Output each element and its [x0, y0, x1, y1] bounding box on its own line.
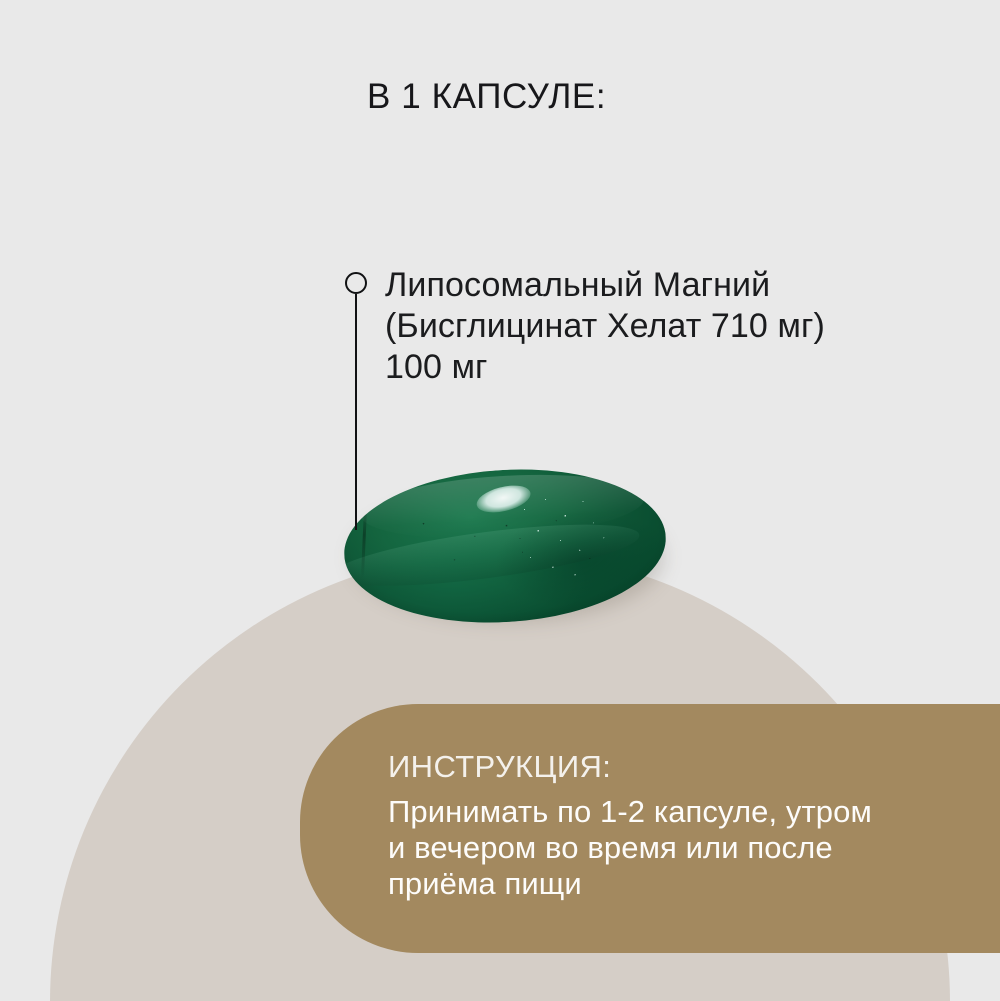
ingredient-callout: Липосомальный Магний (Бисглицинат Хелат …: [385, 265, 905, 388]
ingredient-line-1: Липосомальный Магний: [385, 265, 905, 306]
instruction-content: ИНСТРУКЦИЯ: Принимать по 1-2 капсуле, ут…: [388, 748, 958, 902]
page-title: В 1 КАПСУЛЕ:: [367, 76, 606, 118]
ingredient-line-3: 100 мг: [385, 347, 905, 388]
instruction-heading: ИНСТРУКЦИЯ:: [388, 748, 958, 786]
capsule-body: [340, 460, 671, 631]
leader-line: [355, 294, 357, 530]
instruction-panel: ИНСТРУКЦИЯ: Принимать по 1-2 капсуле, ут…: [300, 704, 1000, 953]
ingredient-line-2: (Бисглицинат Хелат 710 мг): [385, 306, 905, 347]
instruction-line-3: приёма пищи: [388, 866, 958, 902]
circle-bullet-icon: [345, 272, 367, 294]
capsule-illustration: [342, 466, 668, 624]
supplement-label-poster: В 1 КАПСУЛЕ: Липосомальный Магний (Бисгл…: [0, 0, 1000, 1001]
instruction-line-2: и вечером во время или после: [388, 830, 958, 866]
instruction-body: Принимать по 1-2 капсуле, утром и вечеро…: [388, 794, 958, 902]
instruction-line-1: Принимать по 1-2 капсуле, утром: [388, 794, 958, 830]
